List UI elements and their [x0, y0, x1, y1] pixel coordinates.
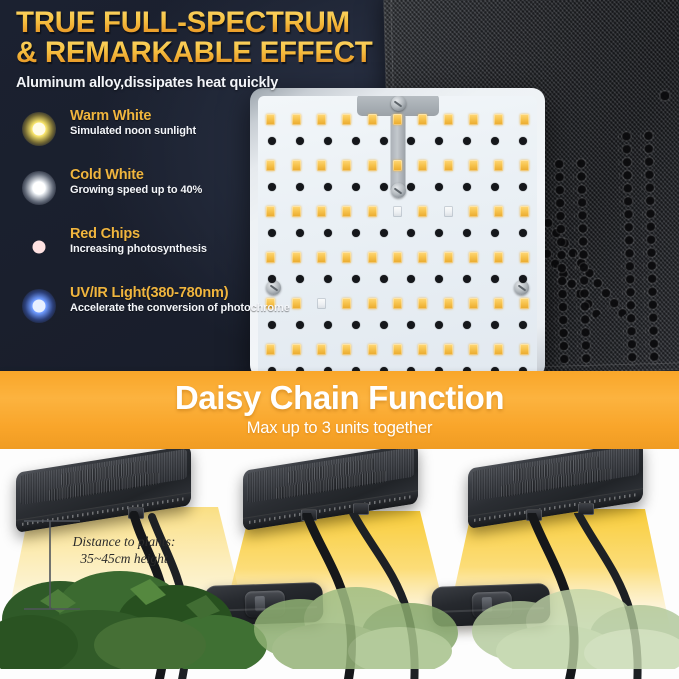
feature-item-cold-white: Cold White Growing speed up to 40%: [22, 167, 282, 226]
led-chip: [520, 114, 529, 125]
led-dot: [380, 229, 388, 237]
feature-description: Growing speed up to 40%: [70, 184, 202, 196]
led-dot: [324, 137, 332, 145]
led-chip: [520, 298, 529, 309]
led-row: [258, 183, 537, 191]
monstera-cluster-mid: [254, 587, 458, 669]
red-chip-dot-icon: [22, 230, 56, 264]
led-dot: [324, 275, 332, 283]
led-dot: [519, 321, 527, 329]
daisy-chain-photo-section: Distance to plants: 35~45cm height: [0, 449, 679, 679]
led-chip: [494, 252, 503, 263]
led-dot: [463, 321, 471, 329]
led-row: [258, 137, 537, 145]
led-chip: [469, 114, 478, 125]
led-dot: [407, 229, 415, 237]
feature-item-red-chips: Red Chips Increasing photosynthesis: [22, 226, 282, 285]
led-chip: [494, 114, 503, 125]
led-chip: [368, 206, 377, 217]
led-chip: [469, 298, 478, 309]
feature-description: Increasing photosynthesis: [70, 243, 207, 255]
led-dot: [380, 275, 388, 283]
led-chip: [342, 206, 351, 217]
led-chip: [393, 160, 402, 171]
led-chip: [444, 206, 453, 217]
led-chip: [342, 298, 351, 309]
led-dot: [519, 183, 527, 191]
led-chip: [418, 252, 427, 263]
led-chip: [342, 344, 351, 355]
led-chip: [393, 344, 402, 355]
led-dot: [324, 229, 332, 237]
led-dot: [296, 137, 304, 145]
led-dot: [463, 183, 471, 191]
led-dot: [491, 183, 499, 191]
led-dot: [407, 275, 415, 283]
feature-title: Warm White: [70, 108, 196, 124]
led-dot: [491, 229, 499, 237]
headline-line-1: TRUE FULL-SPECTRUM: [16, 8, 616, 38]
led-chip: [342, 114, 351, 125]
led-panel-front-image: [250, 88, 545, 372]
led-dot: [352, 137, 360, 145]
led-row: [258, 275, 537, 283]
led-dot: [463, 229, 471, 237]
led-chip: [317, 206, 326, 217]
led-row: [258, 114, 537, 125]
led-row: [258, 229, 537, 237]
feature-title: Cold White: [70, 167, 202, 183]
led-dot: [435, 229, 443, 237]
led-dot: [296, 275, 304, 283]
monstera-cluster-right: [472, 589, 679, 669]
distance-caption-line-2: 35~45cm height: [44, 550, 204, 567]
led-chip: [520, 160, 529, 171]
led-dot: [407, 321, 415, 329]
led-row: [258, 206, 537, 217]
led-row: [258, 344, 537, 355]
led-chip: [342, 160, 351, 171]
feature-description: Accelerate the conversion of photochrome: [70, 302, 290, 314]
led-chip: [393, 206, 402, 217]
uv-ir-dot-icon: [22, 289, 56, 323]
led-dot: [407, 183, 415, 191]
led-dot: [463, 275, 471, 283]
led-row: [258, 321, 537, 329]
banner-title: Daisy Chain Function: [0, 379, 679, 417]
led-chip: [494, 298, 503, 309]
led-dot: [435, 183, 443, 191]
feature-item-warm-white: Warm White Simulated noon sunlight: [22, 108, 282, 167]
led-chip: [266, 344, 275, 355]
led-dot: [435, 275, 443, 283]
led-dot: [352, 275, 360, 283]
headline-block: TRUE FULL-SPECTRUM & REMARKABLE EFFECT A…: [16, 8, 616, 91]
led-chip: [292, 344, 301, 355]
daisy-chain-banner: Daisy Chain Function Max up to 3 units t…: [0, 371, 679, 449]
led-chip: [444, 298, 453, 309]
led-chip: [292, 252, 301, 263]
led-dot: [296, 321, 304, 329]
led-dot: [491, 137, 499, 145]
led-chip: [418, 206, 427, 217]
led-dot: [324, 321, 332, 329]
led-dot: [352, 183, 360, 191]
led-chip: [418, 298, 427, 309]
led-chip: [520, 206, 529, 217]
led-chip: [317, 114, 326, 125]
led-chip: [494, 160, 503, 171]
led-chip: [444, 252, 453, 263]
led-dot: [352, 229, 360, 237]
headline-line-2: & REMARKABLE EFFECT: [16, 38, 616, 68]
led-chip: [418, 344, 427, 355]
led-chip: [317, 298, 326, 309]
led-chip: [494, 344, 503, 355]
led-dot: [380, 137, 388, 145]
led-chip: [520, 252, 529, 263]
led-chip: [342, 252, 351, 263]
top-feature-section: TRUE FULL-SPECTRUM & REMARKABLE EFFECT A…: [0, 0, 679, 372]
feature-item-uv-ir: UV/IR Light(380-780nm) Accelerate the co…: [22, 285, 282, 344]
led-row: [258, 298, 537, 309]
distance-caption-line-1: Distance to plants:: [44, 533, 204, 550]
led-dot: [352, 321, 360, 329]
led-dot: [324, 183, 332, 191]
led-chip: [469, 160, 478, 171]
led-dot: [435, 137, 443, 145]
led-panel-face: [258, 96, 537, 372]
led-chip: [418, 114, 427, 125]
led-chip: [469, 252, 478, 263]
led-chip: [444, 160, 453, 171]
led-dot: [296, 183, 304, 191]
led-dot: [463, 137, 471, 145]
led-chip: [368, 344, 377, 355]
headline-subtitle: Aluminum alloy,dissipates heat quickly: [16, 75, 616, 91]
led-chip: [393, 114, 402, 125]
led-chip: [368, 114, 377, 125]
led-chip: [292, 160, 301, 171]
led-chip: [520, 344, 529, 355]
led-dot: [491, 321, 499, 329]
led-chip: [469, 206, 478, 217]
led-dot: [491, 275, 499, 283]
led-chip: [444, 114, 453, 125]
led-dot: [380, 321, 388, 329]
led-chip: [317, 344, 326, 355]
screw-top: [391, 96, 406, 111]
banner-subtitle: Max up to 3 units together: [0, 419, 679, 438]
led-chip: [469, 344, 478, 355]
led-dot: [407, 137, 415, 145]
back-panel-corner-hole: [658, 89, 672, 103]
feature-title: UV/IR Light(380-780nm): [70, 285, 290, 301]
led-chip: [368, 160, 377, 171]
led-chip: [317, 160, 326, 171]
led-chip: [494, 206, 503, 217]
led-chip: [368, 252, 377, 263]
led-chip: [292, 206, 301, 217]
led-dot: [380, 183, 388, 191]
feature-description: Simulated noon sunlight: [70, 125, 196, 137]
led-dot: [435, 321, 443, 329]
feature-title: Red Chips: [70, 226, 207, 242]
led-chip: [292, 114, 301, 125]
led-dot: [519, 229, 527, 237]
led-dot: [296, 229, 304, 237]
cold-white-dot-icon: [22, 171, 56, 205]
mounting-bracket-stem: [390, 114, 405, 192]
led-chip: [393, 298, 402, 309]
warm-white-dot-icon: [22, 112, 56, 146]
led-dot: [519, 137, 527, 145]
led-row: [258, 252, 537, 263]
led-chip: [444, 344, 453, 355]
distance-caption: Distance to plants: 35~45cm height: [44, 533, 204, 567]
spectrum-feature-list: Warm White Simulated noon sunlight Cold …: [22, 108, 282, 344]
led-chip: [292, 298, 301, 309]
led-chip: [393, 252, 402, 263]
product-infographic: TRUE FULL-SPECTRUM & REMARKABLE EFFECT A…: [0, 0, 679, 679]
led-chip: [418, 160, 427, 171]
distance-measure-bracket: [20, 515, 220, 625]
led-chip: [368, 298, 377, 309]
led-dot: [519, 275, 527, 283]
led-row: [258, 160, 537, 171]
led-chip: [317, 252, 326, 263]
